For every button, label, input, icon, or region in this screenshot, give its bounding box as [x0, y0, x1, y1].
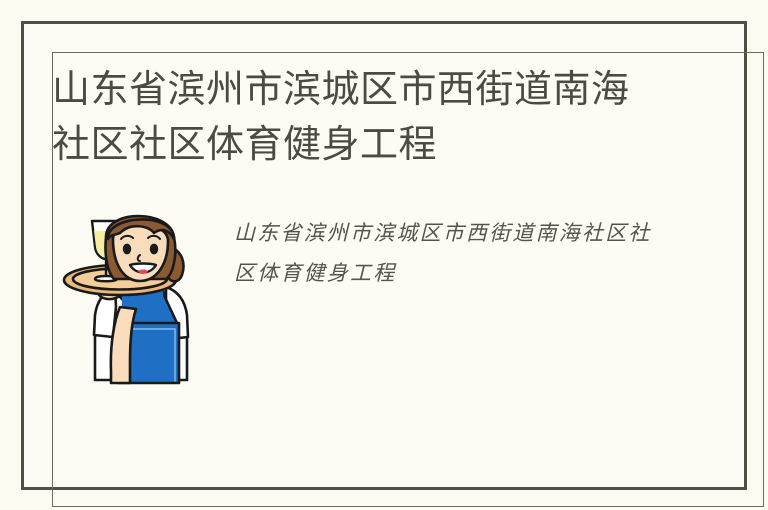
- page-title: 山东省滨州市滨城区市西街道南海社区社区体育健身工程: [52, 62, 652, 172]
- waitress-with-tray-illustration: [58, 195, 218, 385]
- apron-strap-right-fill: [154, 289, 163, 327]
- waitress-illustration-svg: [58, 195, 218, 385]
- document-page: 山东省滨州市滨城区市西街道南海社区社区体育健身工程: [0, 0, 768, 510]
- illustration-caption: 山东省滨州市滨城区市西街道南海社区社区体育健身工程: [234, 213, 664, 293]
- eye-left: [123, 244, 131, 255]
- eye-right: [150, 244, 158, 255]
- content-section: 山东省滨州市滨城区市西街道南海社区社区体育健身工程: [52, 195, 672, 385]
